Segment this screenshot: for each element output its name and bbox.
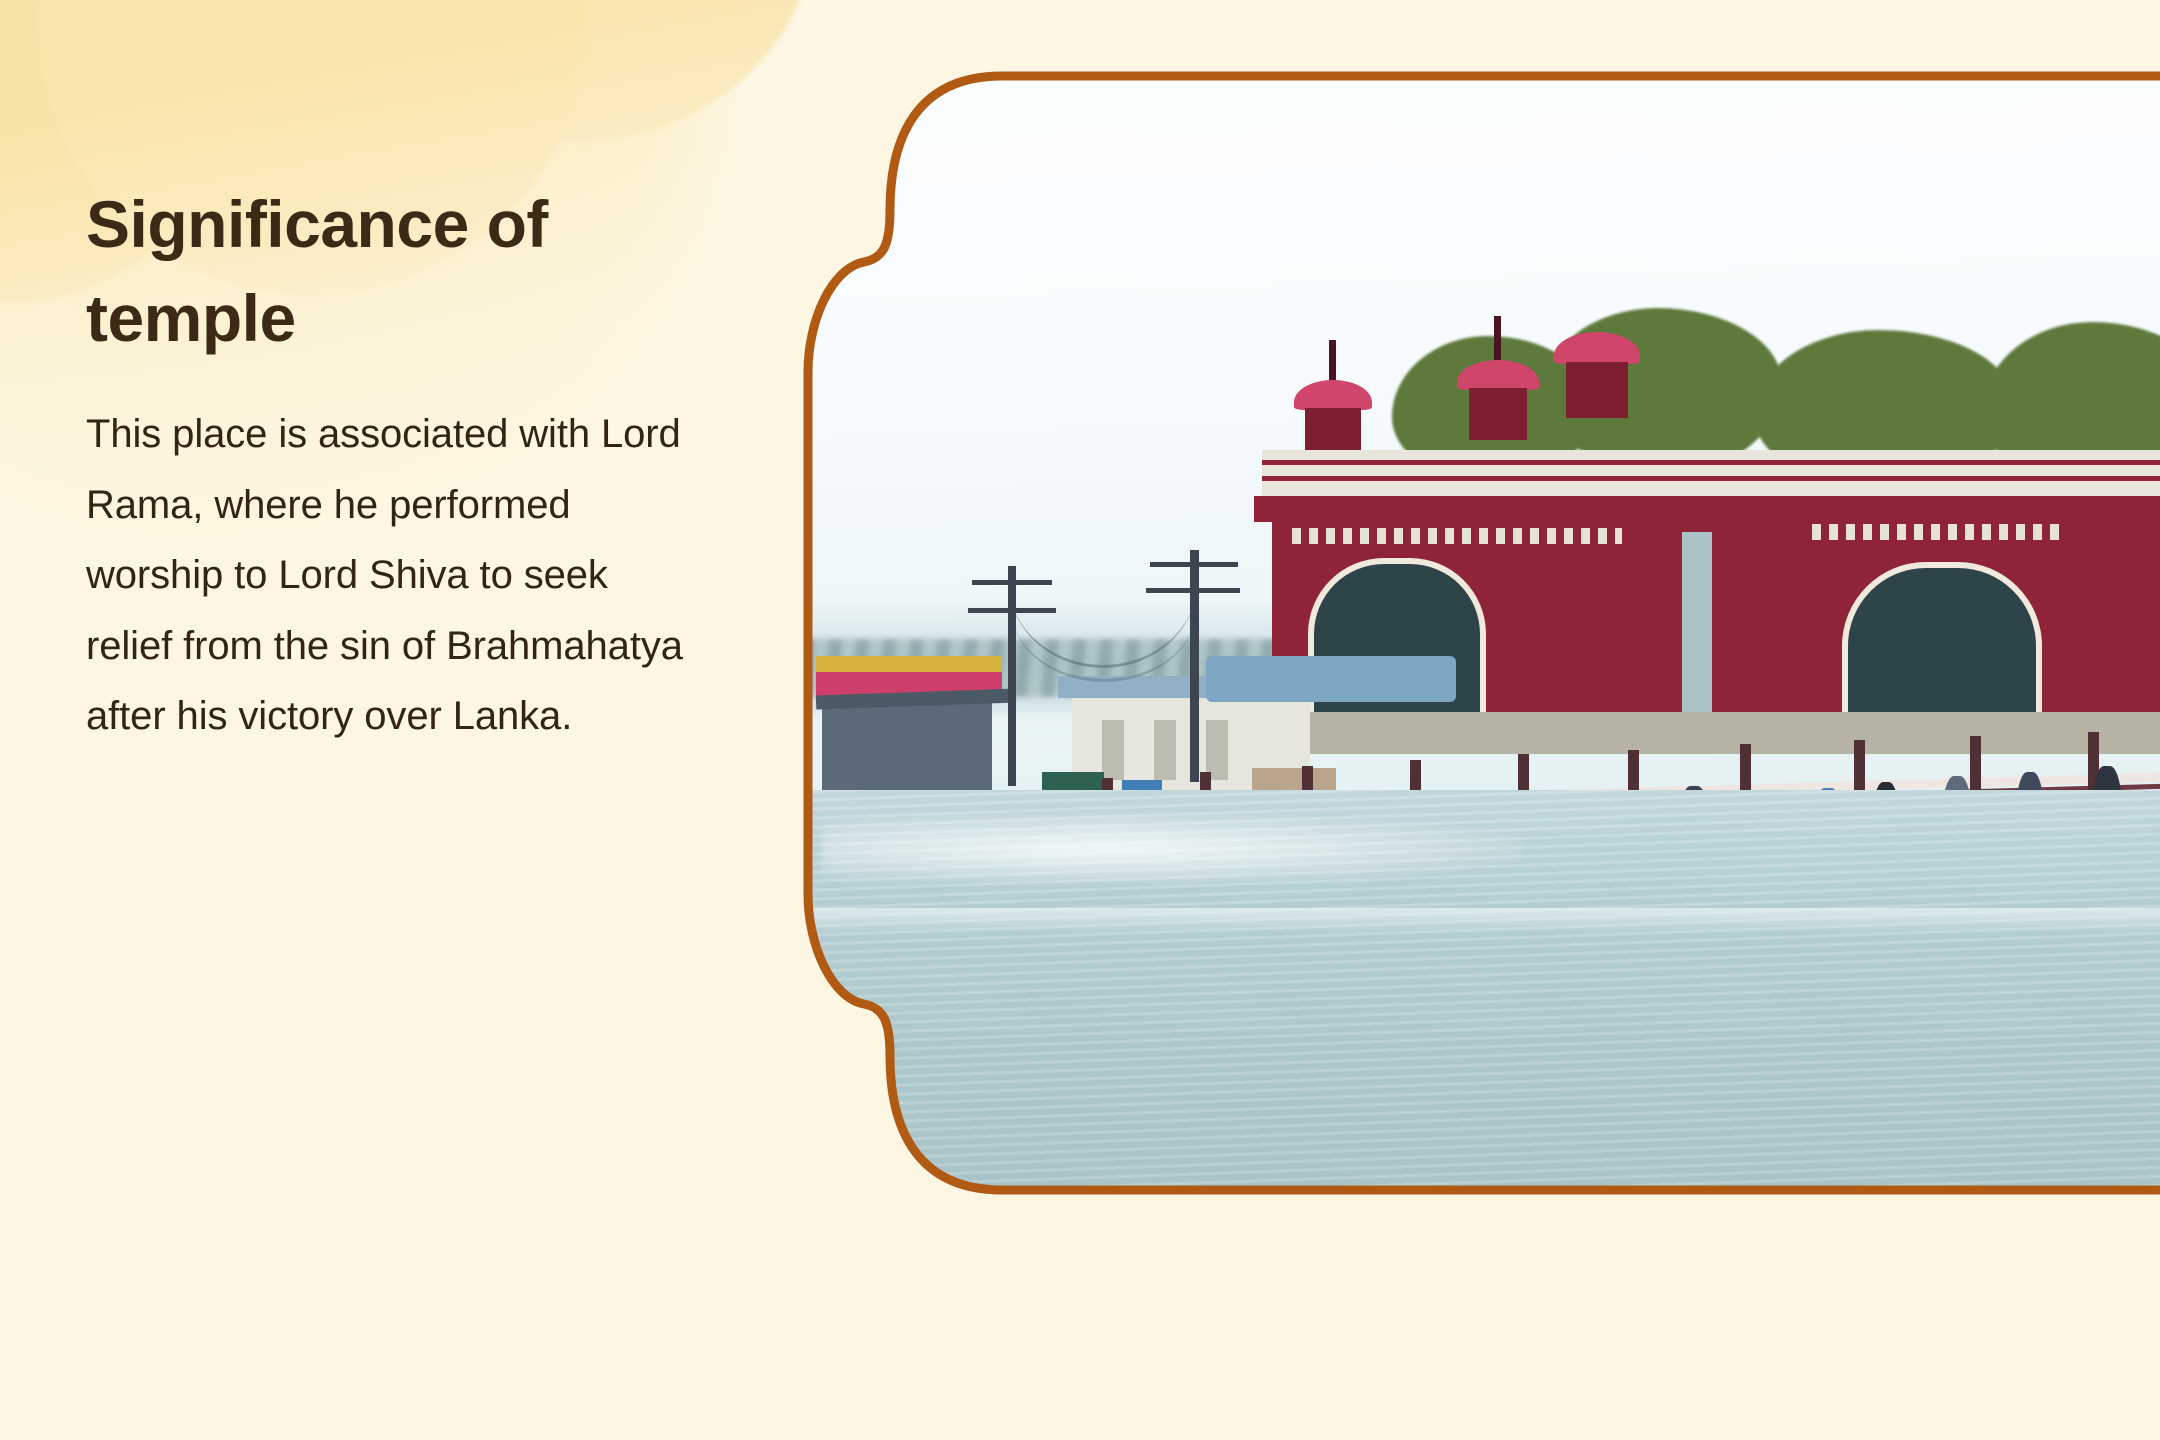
photo-frame-svg: [802, 72, 2160, 1194]
temple-plinth: [1257, 712, 2160, 754]
temple-inscription-band-2: [1812, 524, 2062, 540]
riverside-hall-pillar-3: [1206, 720, 1228, 780]
body-paragraph: This place is associated with Lord Rama,…: [86, 399, 696, 751]
temple-parapet-stripe-2: [1262, 476, 2160, 481]
water-foam: [822, 814, 1522, 884]
text-column: Significance of temple This place is ass…: [86, 178, 726, 751]
temple-parapet-stripe-1: [1262, 460, 2160, 465]
temple-turret-body-3: [1566, 362, 1628, 418]
temple-spire-2: [1494, 316, 1501, 364]
riverside-hall-pillar-1: [1102, 720, 1124, 780]
blue-canopy-roof: [1206, 656, 1456, 702]
temple-turret-body-1: [1305, 408, 1361, 456]
pole-2-crossarm-top: [1150, 562, 1238, 567]
riverside-hall-pillar-2: [1154, 720, 1176, 780]
temple-spire-1: [1329, 340, 1336, 384]
temple-photograph: [802, 72, 2160, 1194]
deco-circle-right: [350, 0, 820, 140]
temple-inscription-band: [1292, 528, 1622, 544]
water-ripple-band: [802, 908, 2160, 934]
temple-photo-frame: [802, 72, 2160, 1194]
temple-turret-body-2: [1469, 388, 1527, 440]
shop-roof-yellow: [816, 656, 1002, 672]
temple-cornice: [1254, 496, 2160, 522]
page-title: Significance of temple: [86, 178, 606, 365]
temple-parapet: [1262, 450, 2160, 496]
